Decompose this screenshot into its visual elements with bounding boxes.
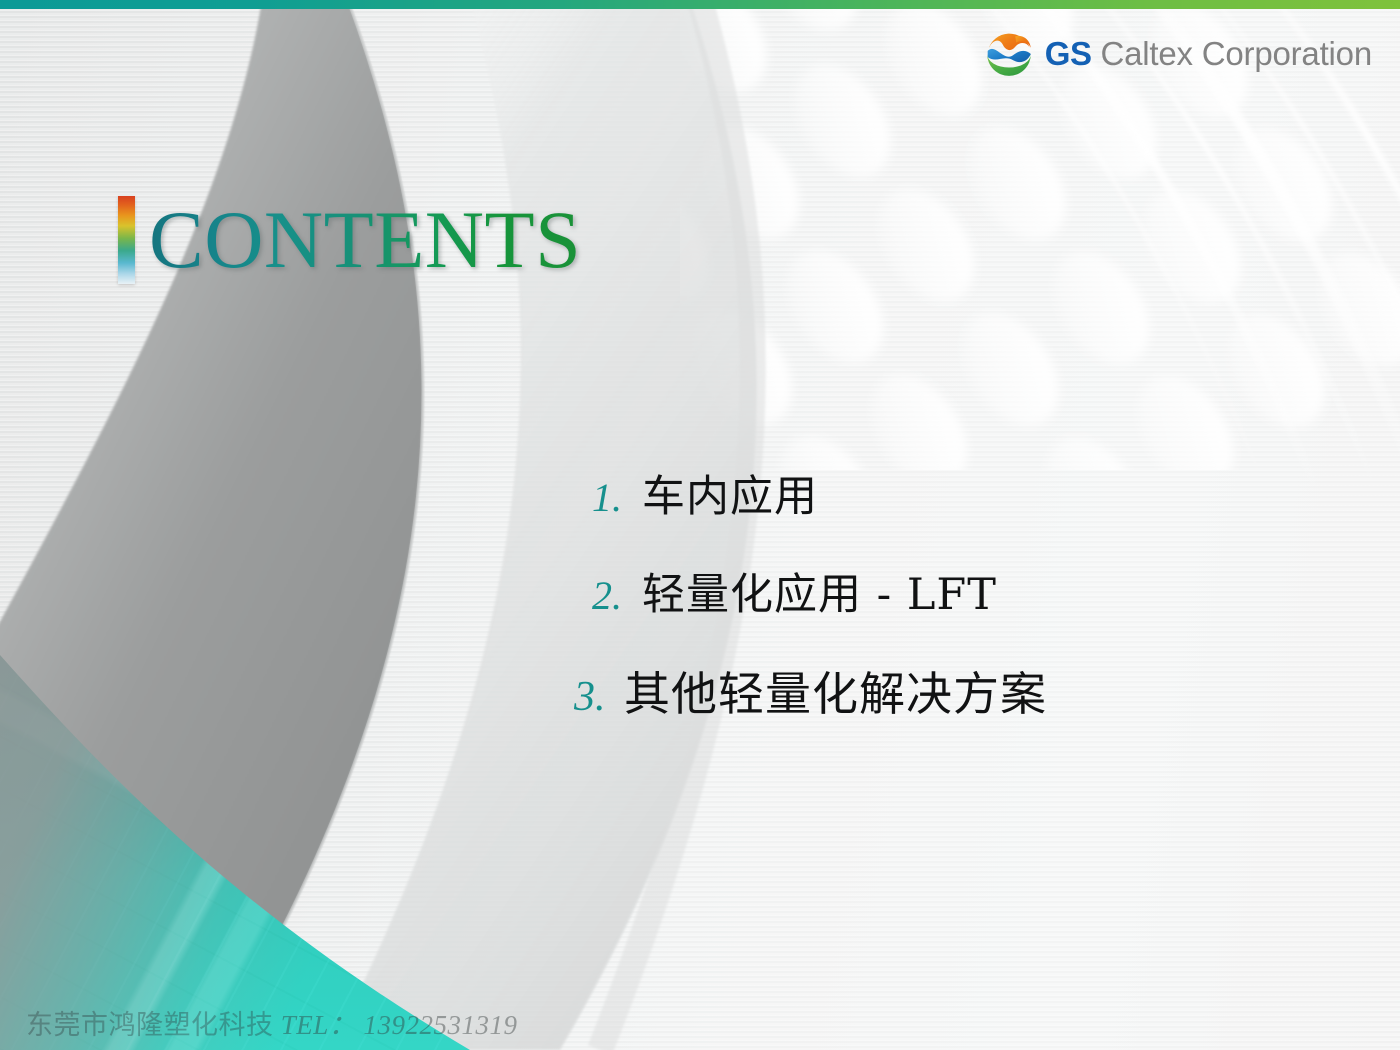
agenda-item-number: 2. <box>592 572 642 619</box>
list-item[interactable]: 3. 其他轻量化解决方案 <box>574 658 1332 724</box>
watermark-tel-number: 13922531319 <box>364 1010 518 1040</box>
slide-canvas: CONTENTS 1. 车内应用 2. 轻量化应用 - LFT 3. 其他轻量化… <box>0 0 1400 1050</box>
page-title-label: CONTENTS <box>149 199 581 281</box>
agenda-item-label: 车内应用 <box>642 462 818 524</box>
top-accent-bar <box>0 0 1400 9</box>
agenda-item-label: 其他轻量化解决方案 <box>624 658 1047 724</box>
list-item[interactable]: 2. 轻量化应用 - LFT <box>592 560 1332 622</box>
agenda-item-label: 轻量化应用 - LFT <box>642 560 997 622</box>
watermark-tel-label: TEL： <box>281 1010 357 1040</box>
page-title: CONTENTS <box>118 196 581 284</box>
watermark: 东莞市鸿隆塑化科技 TEL： 13922531319 <box>26 1003 518 1042</box>
agenda-item-number: 3. <box>574 673 624 721</box>
brand-logo-text: GS Caltex Corporation <box>1045 37 1372 70</box>
list-item[interactable]: 1. 车内应用 <box>592 462 1332 524</box>
brand-gs-label: GS <box>1045 35 1092 72</box>
rainbow-bar-icon <box>118 196 135 284</box>
agenda-item-number: 1. <box>592 474 642 521</box>
brand-logo: GS Caltex Corporation <box>983 27 1372 79</box>
watermark-company: 东莞市鸿隆塑化科技 <box>26 1010 274 1040</box>
gs-caltex-logo-icon <box>983 27 1035 79</box>
brand-name-label: Caltex Corporation <box>1091 35 1372 72</box>
agenda-list: 1. 车内应用 2. 轻量化应用 - LFT 3. 其他轻量化解决方案 <box>592 462 1332 724</box>
